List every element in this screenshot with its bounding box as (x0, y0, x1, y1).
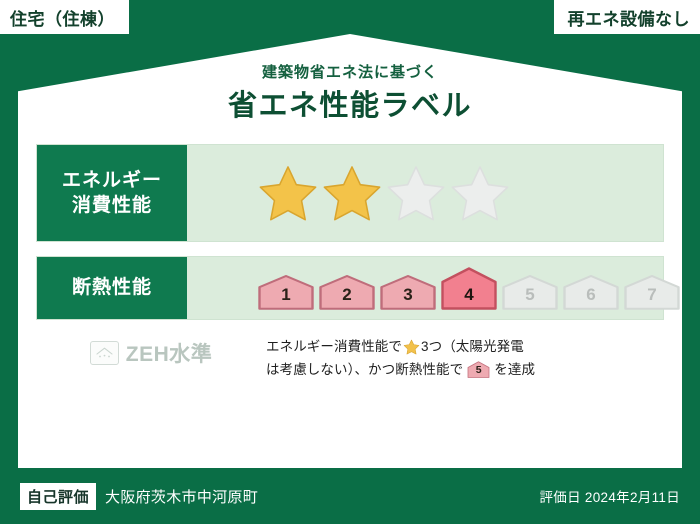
insulation-level-number: 7 (647, 286, 656, 310)
energy-label-line-2: 消費性能 (72, 193, 152, 218)
star-filled-icon (321, 164, 383, 222)
insulation-level-number: 4 (464, 286, 473, 310)
insulation-value: 1234567 (187, 257, 681, 319)
star-empty-icon (449, 164, 511, 222)
zeh-description-line-2: は考慮しない）、かつ断熱性能で 5 を達成 (266, 358, 664, 381)
insulation-label: 断熱性能 (37, 257, 187, 319)
page-title: 省エネ性能ラベル (18, 88, 682, 124)
inline-house-badge: 5 (467, 361, 490, 378)
star-rating (257, 164, 511, 222)
insulation-level-scale: 1234567 (257, 266, 681, 310)
star-filled-icon (257, 164, 319, 222)
building-type-text: 住宅（住棟） (10, 5, 115, 30)
zeh-label: ZEH水準 (126, 338, 213, 368)
zeh-desc-1b: 3つ（太陽光発電 (421, 335, 524, 358)
insulation-row: 断熱性能 1234567 (36, 256, 664, 320)
insulation-level-badge: 3 (379, 274, 437, 310)
zeh-desc-2b: を達成 (494, 358, 535, 381)
evaluation-date: 評価日 2024年2月11日 (539, 486, 680, 506)
star-empty-icon (385, 164, 447, 222)
energy-consumption-row: エネルギー 消費性能 (36, 144, 664, 242)
insulation-level-badge: 2 (318, 274, 376, 310)
inline-star-icon (403, 339, 420, 355)
footer: 自己評価 大阪府茨木市中河原町 評価日 2024年2月11日 (0, 468, 700, 524)
insulation-level-badge: 5 (501, 274, 559, 310)
insulation-level-number: 2 (342, 286, 351, 310)
renewable-energy-text: 再エネ設備なし (568, 5, 691, 30)
zeh-mark: ZEH水準 (36, 334, 266, 368)
insulation-level-badge: 7 (623, 274, 681, 310)
insulation-level-number: 6 (586, 286, 595, 310)
insulation-level-number: 5 (525, 286, 534, 310)
insulation-level-badge: 6 (562, 274, 620, 310)
building-type-badge: 住宅（住棟） (0, 0, 129, 34)
metric-rows: エネルギー 消費性能 断熱性能 1234567 (36, 144, 664, 334)
zeh-desc-1a: エネルギー消費性能で (266, 335, 402, 358)
insulation-level-number: 3 (403, 286, 412, 310)
energy-consumption-label: エネルギー 消費性能 (37, 145, 187, 241)
energy-label-line-1: エネルギー (62, 168, 162, 193)
renewable-energy-badge: 再エネ設備なし (554, 0, 700, 34)
zeh-section: ZEH水準 エネルギー消費性能で 3つ（太陽光発電 は考慮しない）、かつ断熱性 (36, 334, 664, 381)
insulation-level-badge: 4 (440, 266, 498, 310)
zeh-description-line-1: エネルギー消費性能で 3つ（太陽光発電 (266, 335, 664, 358)
zeh-description: エネルギー消費性能で 3つ（太陽光発電 は考慮しない）、かつ断熱性能で (266, 334, 664, 381)
insulation-label-text: 断熱性能 (72, 275, 152, 300)
inline-badge-number: 5 (476, 365, 482, 379)
insulation-level-badge: 1 (257, 274, 315, 310)
energy-consumption-value (187, 145, 663, 241)
main-panel: 建築物省エネ法に基づく 省エネ性能ラベル エネルギー 消費性能 (18, 34, 682, 468)
energy-performance-label: 住宅（住棟） 再エネ設備なし 建築物省エネ法に基づく 省エネ性能ラベル エネルギ… (0, 0, 700, 524)
house-outline-icon (90, 341, 119, 365)
zeh-desc-2a: は考慮しない）、かつ断熱性能で (266, 358, 463, 381)
property-address: 大阪府茨木市中河原町 (105, 486, 258, 507)
evaluation-type-badge: 自己評価 (20, 483, 96, 510)
insulation-level-number: 1 (281, 286, 290, 310)
